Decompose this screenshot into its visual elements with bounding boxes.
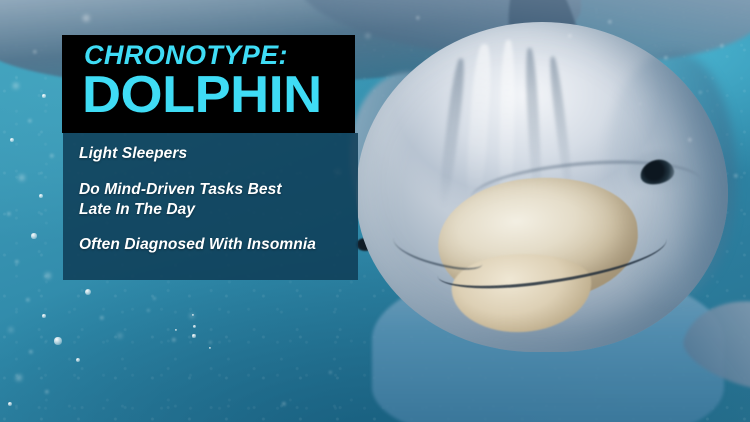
dolphin-chronotype-card: CHRONOTYPE: DOLPHIN Light SleepersDo Min… bbox=[0, 0, 750, 422]
bubble bbox=[688, 138, 691, 141]
fact-item: Often Diagnosed With Insomnia bbox=[79, 235, 348, 255]
bubble bbox=[147, 309, 150, 312]
bubble bbox=[193, 325, 196, 328]
bubble bbox=[13, 83, 19, 89]
bubble bbox=[54, 337, 61, 344]
bubble bbox=[16, 375, 22, 381]
facts-list: Light SleepersDo Mind-Driven Tasks Best … bbox=[79, 144, 348, 255]
bubble bbox=[45, 273, 51, 279]
bubble bbox=[39, 194, 43, 198]
bubble bbox=[209, 341, 212, 344]
bubble bbox=[29, 350, 32, 353]
fact-item: Light Sleepers bbox=[79, 144, 348, 164]
fact-item: Do Mind-Driven Tasks Best Late In The Da… bbox=[79, 180, 348, 220]
bubble bbox=[31, 233, 36, 238]
title-card: CHRONOTYPE: DOLPHIN bbox=[62, 35, 355, 133]
bubble bbox=[33, 50, 37, 54]
bubble bbox=[42, 94, 46, 98]
bubble bbox=[15, 260, 18, 263]
bubble bbox=[83, 15, 90, 22]
bubble bbox=[329, 371, 332, 374]
facts-panel: Light SleepersDo Mind-Driven Tasks Best … bbox=[63, 133, 358, 280]
bubble bbox=[45, 390, 49, 394]
bubble bbox=[568, 34, 572, 38]
bubble bbox=[699, 91, 702, 94]
chronotype-eyebrow: CHRONOTYPE: bbox=[84, 42, 288, 69]
bubble bbox=[734, 174, 737, 177]
bubble bbox=[100, 316, 103, 319]
bubble bbox=[192, 334, 195, 337]
bubble bbox=[26, 298, 30, 302]
bubble bbox=[42, 314, 46, 318]
bubble bbox=[416, 16, 419, 19]
bubble bbox=[50, 154, 53, 157]
bubble bbox=[664, 56, 668, 60]
bubble bbox=[10, 138, 14, 142]
bubble bbox=[153, 297, 156, 300]
bubble bbox=[118, 334, 122, 338]
bubble bbox=[282, 402, 286, 406]
bubble bbox=[172, 338, 175, 341]
bubble bbox=[608, 20, 611, 23]
chronotype-headline: DOLPHIN bbox=[82, 69, 322, 121]
